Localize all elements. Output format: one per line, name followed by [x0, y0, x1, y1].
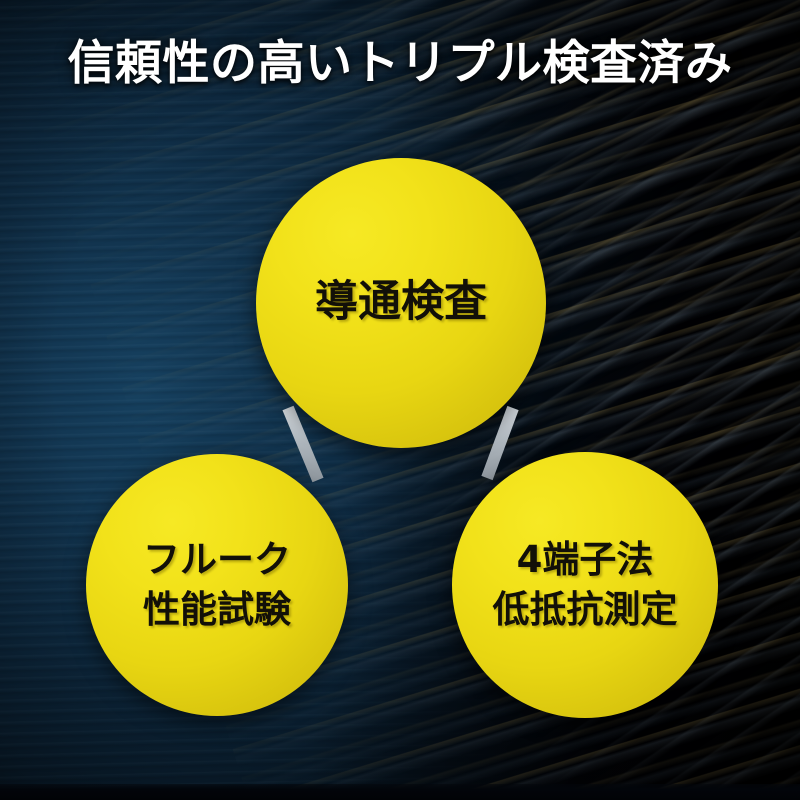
node-left-label: フルーク 性能試験	[135, 535, 299, 634]
node-continuity-test[interactable]: 導通検査	[256, 158, 546, 448]
node-four-terminal-low-resistance[interactable]: 4端子法 低抵抗測定	[452, 452, 718, 718]
promotional-banner: 信頼性の高いトリプル検査済み 導通検査 フルーク 性能試験 4端子法 低抵抗測定	[0, 0, 800, 800]
node-top-label: 導通検査	[307, 278, 495, 327]
node-right-label: 4端子法 低抵抗測定	[485, 535, 686, 634]
connector-top-right	[487, 408, 513, 478]
node-fluke-performance-test[interactable]: フルーク 性能試験	[86, 454, 348, 716]
